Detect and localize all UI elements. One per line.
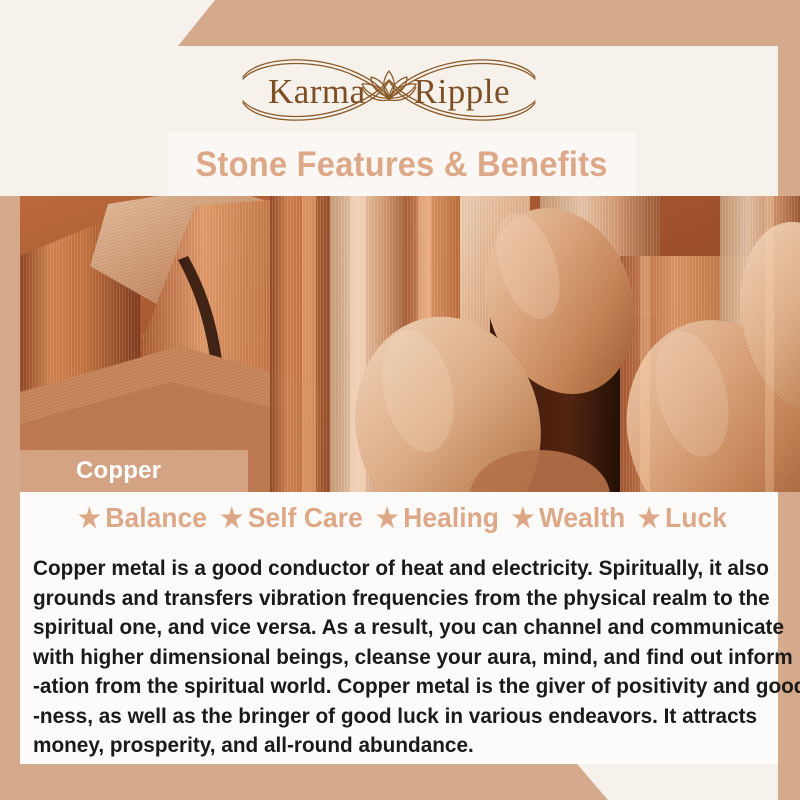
copper-rods-image bbox=[20, 196, 800, 492]
brand-word-right: Ripple bbox=[414, 74, 510, 109]
description-line: grounds and transfers vibration frequenc… bbox=[33, 584, 747, 614]
brand-header: Karma Ripple bbox=[0, 46, 778, 134]
description-line: -ness, as well as the bringer of good lu… bbox=[33, 702, 747, 732]
feature-item: ★ Healing bbox=[371, 502, 499, 534]
brand-wordmark: Karma Ripple bbox=[219, 73, 559, 108]
feature-label: Balance bbox=[105, 502, 207, 534]
copper-photo bbox=[20, 196, 800, 492]
star-icon: ★ bbox=[220, 505, 243, 532]
photo-caption: Copper bbox=[20, 450, 248, 492]
feature-label: Healing bbox=[404, 502, 500, 534]
description-line: spiritual one, and vice versa. As a resu… bbox=[33, 613, 747, 643]
title-banner: Stone Features & Benefits bbox=[168, 133, 636, 196]
page-title: Stone Features & Benefits bbox=[196, 145, 608, 185]
star-icon: ★ bbox=[637, 505, 660, 532]
left-accent-band bbox=[0, 196, 20, 800]
feature-item: ★ Self Care bbox=[216, 502, 363, 534]
feature-item: ★ Balance bbox=[73, 502, 207, 534]
feature-list: ★ Balance ★ Self Care ★ Healing ★ Wealth… bbox=[20, 502, 778, 534]
content-card: ★ Balance ★ Self Care ★ Healing ★ Wealth… bbox=[20, 492, 778, 764]
description-line: Copper metal is a good conductor of heat… bbox=[33, 554, 747, 584]
description-text: Copper metal is a good conductor of heat… bbox=[33, 554, 747, 761]
brand-logo: Karma Ripple bbox=[219, 51, 559, 129]
feature-item: ★ Luck bbox=[632, 502, 726, 534]
description-line: -ation from the spiritual world. Copper … bbox=[33, 672, 747, 702]
description-line: money, prosperity, and all-round abundan… bbox=[33, 731, 747, 761]
infographic-page: Karma Ripple Stone Features & Benefits bbox=[0, 0, 800, 800]
star-icon: ★ bbox=[512, 505, 535, 532]
bottom-accent-band bbox=[0, 758, 640, 800]
brand-word-left: Karma bbox=[268, 74, 366, 109]
feature-label: Luck bbox=[665, 502, 727, 534]
feature-label: Self Care bbox=[248, 502, 363, 534]
feature-item: ★ Wealth bbox=[507, 502, 626, 534]
description-line: with higher dimensional beings, cleanse … bbox=[33, 643, 747, 673]
star-icon: ★ bbox=[77, 505, 100, 532]
stone-name: Copper bbox=[76, 457, 161, 485]
feature-label: Wealth bbox=[539, 502, 625, 534]
star-icon: ★ bbox=[376, 505, 399, 532]
